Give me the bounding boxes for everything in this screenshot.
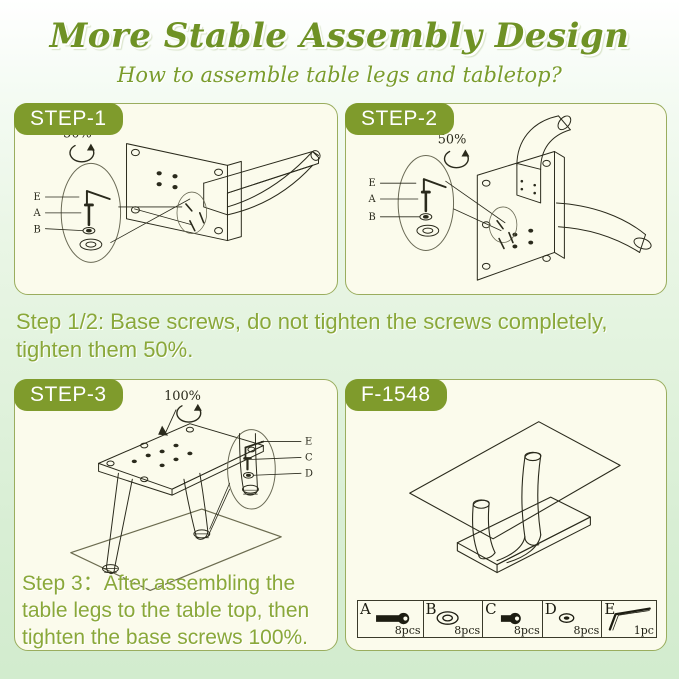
tab-step-2[interactable]: STEP-2 <box>345 103 454 135</box>
panel-step-1: 50% E A B STEP-1 <box>14 103 338 295</box>
part-qty-b: 8pcs <box>454 624 480 637</box>
part-qty-c: 8pcs <box>514 624 540 637</box>
step-1-label-e: E <box>34 192 41 203</box>
tab-f1548[interactable]: F-1548 <box>345 379 447 411</box>
panel-f1548: A 8pcs B 8pcs C 8pcs <box>345 379 667 651</box>
page-subtitle: How to assemble table legs and tabletop? <box>0 62 679 88</box>
step-2-label-b: B <box>368 212 375 223</box>
part-cell-e: E 1pc <box>602 601 656 637</box>
part-cell-a: A 8pcs <box>358 601 424 637</box>
part-letter-d: D <box>545 601 557 617</box>
part-letter-e: E <box>604 601 615 617</box>
tab-step-3[interactable]: STEP-3 <box>14 379 123 411</box>
part-cell-c: C 8pcs <box>483 601 543 637</box>
tab-step-1[interactable]: STEP-1 <box>14 103 123 135</box>
part-qty-d: 8pcs <box>573 624 599 637</box>
caption-step-1-2: Step 1/2: Base screws, do not tighten th… <box>16 308 666 364</box>
part-cell-b: B 8pcs <box>424 601 484 637</box>
step-1-label-a: A <box>33 208 42 219</box>
part-letter-b: B <box>426 601 437 617</box>
header: More Stable Assembly Design How to assem… <box>0 16 679 88</box>
assembly-instruction-sheet: More Stable Assembly Design How to assem… <box>0 0 679 679</box>
parts-list-table: A 8pcs B 8pcs C 8pcs <box>357 600 657 638</box>
panel-step-2: 50% E A B STEP-2 <box>345 103 667 295</box>
step-3-percent: 100% <box>164 389 201 404</box>
page-title: More Stable Assembly Design <box>0 16 679 56</box>
step-1-label-b: B <box>34 225 41 236</box>
caption-step-3: Step 3：After assembling the table legs t… <box>22 570 322 651</box>
part-letter-a: A <box>360 601 371 617</box>
part-letter-c: C <box>485 601 496 617</box>
step-3-label-c: C <box>305 452 313 463</box>
part-qty-e: 1pc <box>634 624 654 637</box>
step-2-label-e: E <box>368 178 375 189</box>
step-3-label-e: E <box>305 437 312 448</box>
step-3-label-d: D <box>305 468 313 479</box>
step-2-label-a: A <box>367 194 376 205</box>
part-qty-a: 8pcs <box>395 624 421 637</box>
part-cell-d: D 8pcs <box>543 601 603 637</box>
